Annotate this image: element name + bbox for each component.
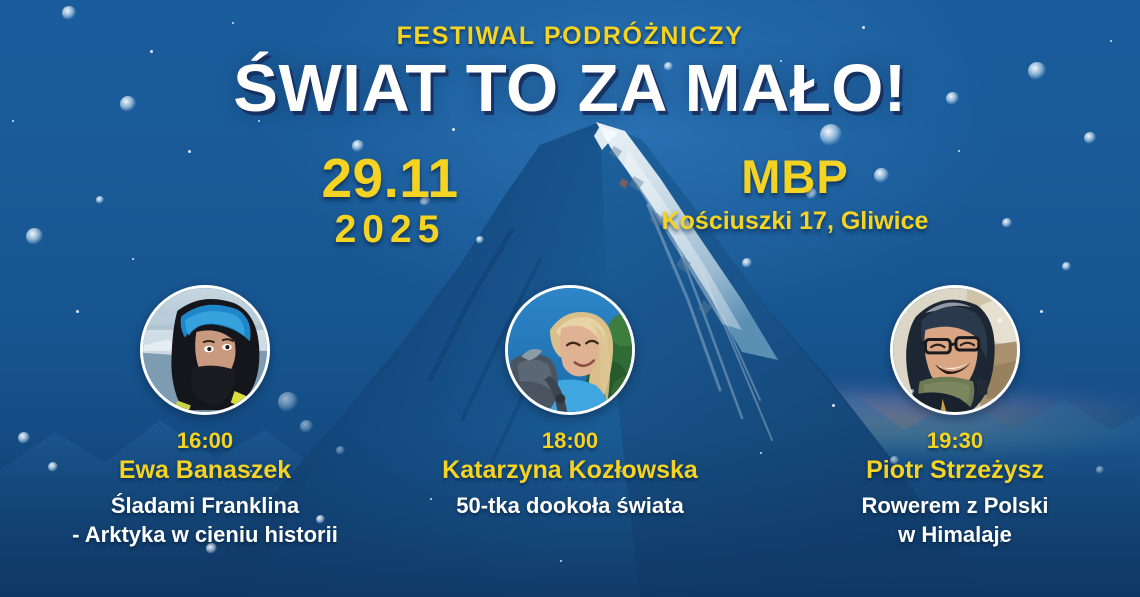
speaker-1-avatar [140,285,270,415]
event-date-day: 29.11 [245,150,535,206]
speaker-2-name: Katarzyna Kozłowska [405,455,735,486]
venue-name: MBP [645,152,945,201]
speaker-card-3: 19:30 Piotr Strzeżysz Rowerem z Polski w… [790,285,1120,549]
speaker-3-avatar [890,285,1020,415]
event-date-year: 2025 [245,206,535,255]
speaker-3-talk-line1: Rowerem z Polski [790,491,1120,520]
speaker-3-talk: Rowerem z Polski w Himalaje [790,491,1120,550]
speaker-2-talk-line1: 50-tka dookoła świata [405,491,735,520]
speaker-1-talk: Śladami Franklina - Arktyka w cieniu his… [40,491,370,550]
festival-poster: FESTIWAL PODRÓŻNICZY ŚWIAT TO ZA MAŁO! 2… [0,0,1140,597]
speaker-2-avatar [505,285,635,415]
speaker-3-name: Piotr Strzeżysz [790,455,1120,486]
speaker-card-1: 16:00 Ewa Banaszek Śladami Franklina - A… [40,285,370,549]
speaker-1-time: 16:00 [40,427,370,455]
page-title: ŚWIAT TO ZA MAŁO! [0,55,1140,122]
speaker-card-2: 18:00 Katarzyna Kozłowska 50-tka dookoła… [405,285,735,520]
speaker-1-talk-line1: Śladami Franklina [40,491,370,520]
speaker-2-time: 18:00 [405,427,735,455]
speaker-3-time: 19:30 [790,427,1120,455]
speaker-3-talk-line2: w Himalaje [790,520,1120,549]
speaker-1-talk-line2: - Arktyka w cieniu historii [40,520,370,549]
event-venue: MBP Kościuszki 17, Gliwice [645,152,945,238]
venue-address: Kościuszki 17, Gliwice [645,205,945,238]
speaker-2-talk: 50-tka dookoła świata [405,491,735,520]
festival-kicker: FESTIWAL PODRÓŻNICZY [0,22,1140,51]
speaker-1-name: Ewa Banaszek [40,455,370,486]
event-date: 29.11 2025 [245,150,535,255]
